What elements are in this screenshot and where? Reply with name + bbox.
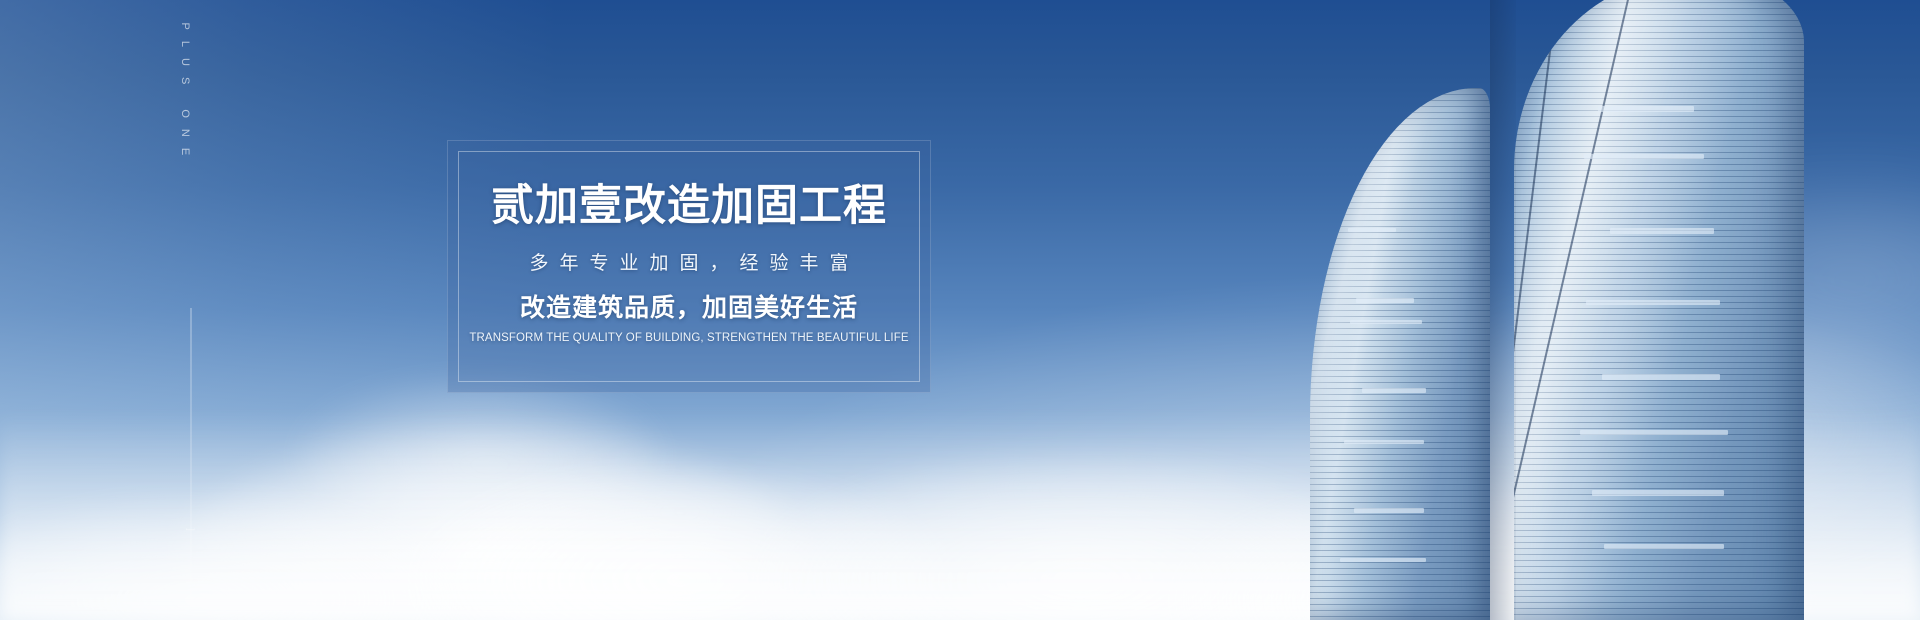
window-band (1602, 374, 1720, 380)
hero-banner: TWO PLUS ONE ] 贰加壹改造加固工程 多年专业加固，经验丰富 改造建… (0, 0, 1920, 620)
slogan: 改造建筑品质，加固美好生活 (520, 296, 858, 321)
tower-glass-sheen (1310, 88, 1490, 620)
hero-text-panel: 贰加壹改造加固工程 多年专业加固，经验丰富 改造建筑品质，加固美好生活 TRAN… (447, 140, 931, 393)
brand-vertical-text: TWO PLUS ONE (179, 0, 191, 166)
subtitle: 多年专业加固，经验丰富 (518, 254, 859, 273)
window-band (1598, 106, 1694, 112)
window-band (1344, 440, 1424, 444)
tower-gap-shadow (1490, 0, 1516, 620)
brand-rail: TWO PLUS ONE ] (178, 58, 204, 558)
window-band (1356, 298, 1414, 303)
page-title: 贰加壹改造加固工程 (491, 185, 887, 228)
window-band (1592, 490, 1724, 496)
brand-tick-mark: ] (186, 528, 196, 532)
slogan-english: TRANSFORM THE QUALITY OF BUILDING, STREN… (469, 333, 908, 345)
tower-right (1514, 0, 1804, 620)
window-band (1348, 228, 1396, 232)
tower-glass-sheen (1514, 0, 1804, 620)
window-band (1604, 544, 1724, 549)
window-band (1586, 300, 1720, 305)
skyscraper-group (1300, 0, 1920, 620)
window-band (1610, 228, 1714, 234)
window-band (1584, 154, 1704, 159)
window-band (1362, 388, 1426, 393)
brand-divider-line (191, 308, 192, 613)
window-band (1354, 508, 1424, 513)
window-band (1350, 320, 1422, 324)
window-band (1340, 558, 1426, 562)
tower-left (1310, 88, 1490, 620)
panel-content: 贰加壹改造加固工程 多年专业加固，经验丰富 改造建筑品质，加固美好生活 TRAN… (448, 141, 930, 392)
window-band (1580, 430, 1728, 435)
